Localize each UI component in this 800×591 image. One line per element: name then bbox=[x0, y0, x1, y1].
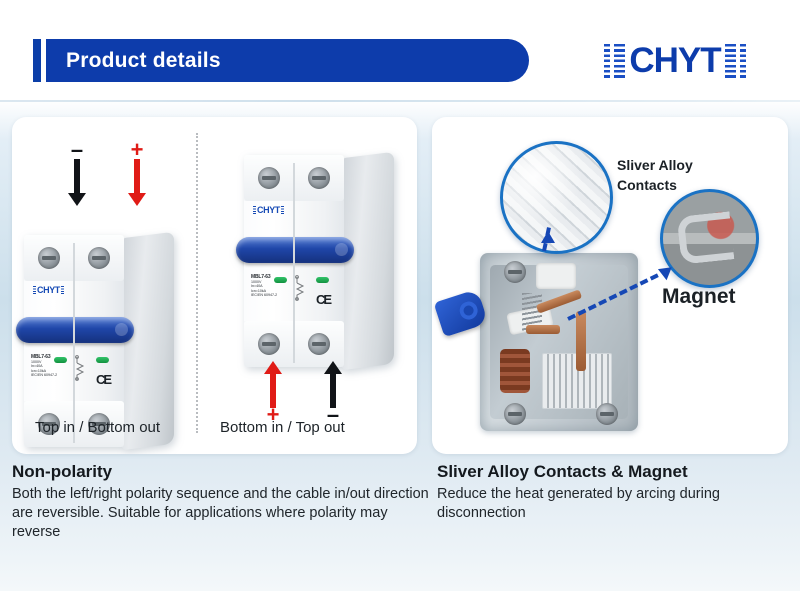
sliver-alloy-contacts-callout bbox=[500, 141, 613, 254]
breaker-side-body bbox=[122, 232, 174, 450]
status-indicator-green bbox=[54, 357, 67, 363]
terminal-screw-icon bbox=[258, 167, 280, 189]
breaker-caption-bottom-in: Bottom in / Top out bbox=[220, 419, 345, 436]
caption-title: Sliver Alloy Contacts & Magnet bbox=[437, 462, 787, 482]
breaker-brand-mark: CHYT bbox=[32, 285, 65, 295]
brand-stripe-icon bbox=[281, 206, 284, 214]
logo-stripe-left-icon bbox=[604, 44, 610, 78]
non-polarity-caption: Non-polarity Both the left/right polarit… bbox=[12, 462, 432, 542]
polarity-sign: – bbox=[60, 143, 94, 159]
breaker-side-body bbox=[342, 152, 394, 370]
pole-seam bbox=[293, 163, 295, 363]
header-divider bbox=[0, 100, 800, 102]
breaker-caption-top-in: Top in / Bottom out bbox=[35, 419, 160, 436]
terminal-screw-icon bbox=[504, 261, 526, 283]
circuit-diagram-icon bbox=[74, 355, 94, 381]
logo-wordmark: CHYT bbox=[629, 44, 720, 78]
polarity-arrow-negative-top-left: – bbox=[60, 143, 94, 206]
panel-divider bbox=[196, 133, 198, 433]
callout-label-line1: Sliver Alloy bbox=[617, 155, 737, 175]
breaker-brand-text: CHYT bbox=[257, 205, 280, 215]
copper-conductor bbox=[576, 311, 586, 371]
logo-stripe-right2-icon bbox=[740, 44, 746, 78]
non-polarity-image-panel: – + CHYT MBL7-63 1000V In= bbox=[12, 117, 417, 454]
arrow-shaft bbox=[134, 159, 140, 193]
terminal-screw-icon bbox=[258, 333, 280, 355]
polarity-arrow-negative-bottom-right: – bbox=[316, 361, 350, 424]
status-indicator-green bbox=[274, 277, 287, 283]
pole-seam bbox=[73, 243, 75, 443]
brand-logo: CHYT bbox=[595, 40, 755, 82]
polarity-arrow-positive-top-left: + bbox=[120, 143, 154, 206]
brand-stripe-icon bbox=[253, 206, 256, 214]
arrow-head bbox=[128, 193, 146, 206]
status-indicator-green bbox=[96, 357, 109, 363]
breaker-brand-mark: CHYT bbox=[252, 205, 285, 215]
pointer-tip bbox=[541, 231, 555, 243]
terminal-screw-icon bbox=[596, 403, 618, 425]
contacts-magnet-caption: Sliver Alloy Contacts & Magnet Reduce th… bbox=[437, 462, 787, 523]
circuit-breaker-bottom-in: CHYT MBL7-63 1000V In=40A Icn=10kA IEC/E… bbox=[238, 145, 398, 375]
arrow-head bbox=[324, 361, 342, 374]
title-accent-bar bbox=[33, 39, 41, 82]
breaker-toggle-lever[interactable] bbox=[16, 317, 134, 343]
arc-chamber-part bbox=[536, 263, 576, 289]
caption-title: Non-polarity bbox=[12, 462, 432, 482]
title-banner: Product details bbox=[46, 39, 529, 82]
polarity-arrow-positive-bottom-right: + bbox=[256, 361, 290, 424]
magnet-label: Magnet bbox=[662, 285, 736, 309]
terminal-screw-icon bbox=[308, 167, 330, 189]
ce-mark-icon: CE bbox=[96, 373, 110, 386]
ce-mark-icon: CE bbox=[316, 293, 330, 306]
page-title: Product details bbox=[46, 49, 221, 73]
caption-body: Both the left/right polarity sequence an… bbox=[12, 485, 432, 542]
logo-stripe-left2-icon bbox=[614, 44, 625, 78]
logo-stripe-right-icon bbox=[725, 44, 736, 78]
terminal-screw-icon bbox=[88, 247, 110, 269]
caption-body: Reduce the heat generated by arcing duri… bbox=[437, 485, 787, 523]
arrow-shaft bbox=[74, 159, 80, 193]
breaker-cutaway-body bbox=[480, 253, 638, 431]
brand-stripe-icon bbox=[61, 286, 64, 294]
polarity-sign: + bbox=[120, 143, 154, 159]
status-indicator-green bbox=[316, 277, 329, 283]
terminal-screw-icon bbox=[38, 247, 60, 269]
breaker-brand-text: CHYT bbox=[37, 285, 60, 295]
arrow-head bbox=[264, 361, 282, 374]
copper-contact-arm bbox=[526, 325, 560, 334]
brand-stripe-icon bbox=[33, 286, 36, 294]
terminal-screw-icon bbox=[504, 403, 526, 425]
circuit-diagram-icon bbox=[294, 275, 314, 301]
breaker-toggle-lever[interactable] bbox=[236, 237, 354, 263]
internal-structure-image-panel: Sliver Alloy Contacts Magnet bbox=[432, 117, 788, 454]
arrow-head bbox=[68, 193, 86, 206]
terminal-screw-icon bbox=[308, 333, 330, 355]
solenoid-coil bbox=[500, 349, 530, 393]
